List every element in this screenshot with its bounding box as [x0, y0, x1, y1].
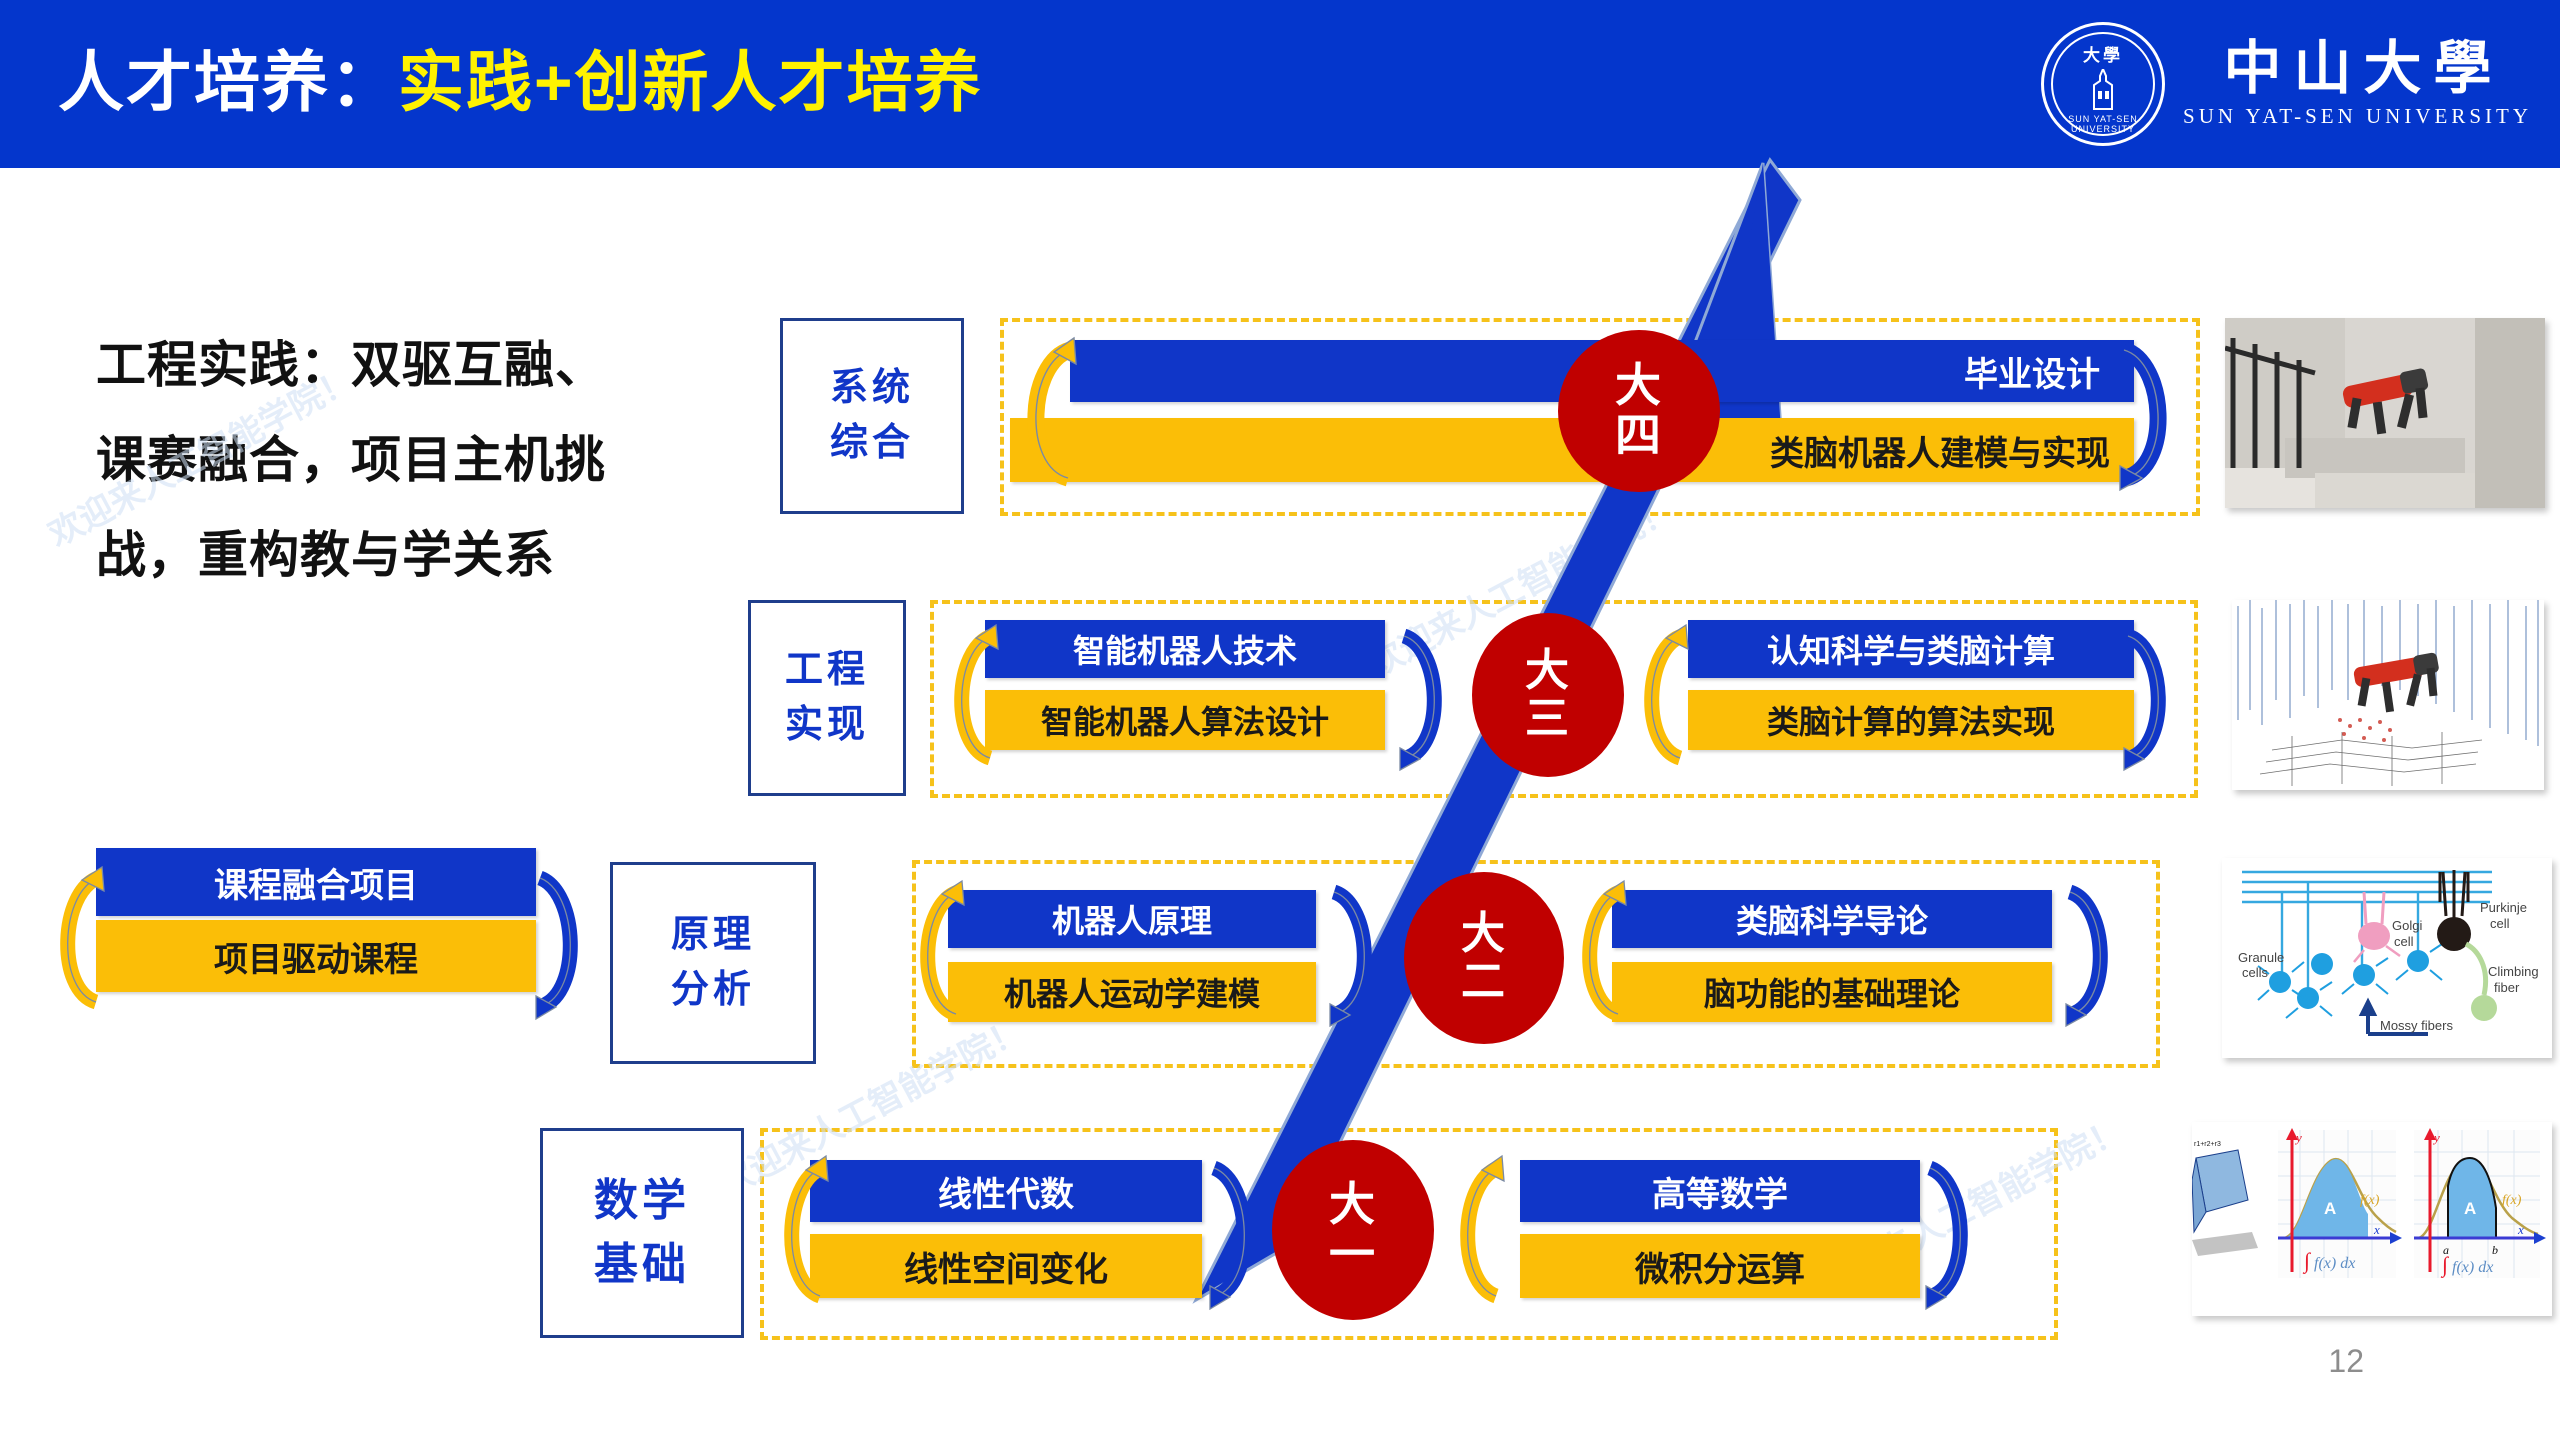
svg-text:x: x: [2373, 1222, 2380, 1237]
stage-label-line1: 数学: [594, 1169, 690, 1233]
stage-label-line2: 综合: [830, 416, 914, 471]
purkinje-label-line1: Purkinje: [2480, 900, 2527, 915]
loop-arrow-icon: [1630, 622, 1694, 772]
seal-chinese-text: 大學: [2044, 41, 2162, 66]
svg-text:f(x): f(x): [2360, 1193, 2380, 1208]
loop-arrow-icon: [908, 878, 970, 1030]
logo-wordmark: 中山大學 SUN YAT-SEN UNIVERSITY: [2183, 39, 2532, 129]
purkinje-label-line2: cell: [2490, 916, 2510, 931]
university-logo: 大學 SUN YAT-SEN UNIVERSITY 中山大學 SUN YAT-S…: [2041, 8, 2532, 160]
svg-text:r1+r2+r3: r1+r2+r3: [2194, 1141, 2221, 1148]
logo-name-cn: 中山大學: [2212, 39, 2504, 100]
year-line2: 四: [1615, 411, 1663, 461]
year-line1: 大: [1461, 910, 1507, 958]
thumbnail-robot-dog-stairs[interactable]: [2225, 318, 2545, 508]
stage-label-principle-analysis[interactable]: 原理 分析: [610, 862, 816, 1064]
page-title-white: 人才培养：: [58, 45, 398, 119]
course-bar-row3-right-yellow[interactable]: 脑功能的基础理论: [1612, 962, 2052, 1022]
svg-text:f(x): f(x): [2502, 1193, 2522, 1208]
stage-label-line2: 分析: [671, 963, 755, 1018]
stage-label-line1: 原理: [671, 908, 755, 963]
thumbnail-calculus-integral[interactable]: r1+r2+r3 y x A f(x) ∫ f(x) dx: [2192, 1122, 2552, 1316]
course-bar-row4-right-yellow[interactable]: 微积分运算: [1520, 1234, 1920, 1298]
year-line1: 大: [1615, 361, 1663, 411]
year-circle-senior[interactable]: 大 四: [1558, 330, 1720, 492]
logo-name-en: SUN YAT-SEN UNIVERSITY: [2183, 104, 2532, 129]
svg-text:x: x: [2517, 1222, 2524, 1237]
granule-label-line2: cells: [2242, 965, 2269, 980]
mossy-fibers-label: Mossy fibers: [2380, 1018, 2453, 1033]
left-description-text: 工程实践：双驱互融、课赛融合，项目主机挑战，重构教与学关系: [96, 318, 656, 603]
granule-label-line1: Granule: [2238, 950, 2284, 965]
robot-dog-stairs-image: [2225, 318, 2545, 508]
page-title: 人才培养：实践+创新人才培养: [58, 22, 983, 142]
year-circle-junior[interactable]: 大 三: [1472, 613, 1624, 777]
svg-text:A: A: [2324, 1199, 2336, 1218]
svg-text:y: y: [2432, 1130, 2440, 1145]
stage-label-line1: 系统: [830, 361, 914, 416]
course-bar-row3-left-blue[interactable]: 机器人原理: [948, 890, 1316, 948]
loop-arrow-icon: [1012, 336, 1084, 492]
loop-arrow-icon: [1202, 1150, 1264, 1312]
loop-arrow-icon: [1918, 1150, 1980, 1312]
year-line1: 大: [1525, 647, 1571, 695]
seal-english-text: SUN YAT-SEN UNIVERSITY: [2044, 114, 2162, 134]
golgi-label-line2: cell: [2394, 934, 2414, 949]
course-bar-row3-outer-blue[interactable]: 课程融合项目: [96, 848, 536, 916]
seal-tower-icon: [2086, 69, 2120, 111]
year-circle-sophomore[interactable]: 大 二: [1404, 872, 1564, 1044]
loop-arrow-icon: [1322, 878, 1384, 1030]
course-bar-row3-left-yellow[interactable]: 机器人运动学建模: [948, 962, 1316, 1022]
svg-text:y: y: [2294, 1130, 2302, 1145]
course-bar-row2-left-blue[interactable]: 智能机器人技术: [985, 620, 1385, 678]
course-bar-row2-right-yellow[interactable]: 类脑计算的算法实现: [1688, 690, 2134, 750]
loop-arrow-icon: [1392, 622, 1456, 772]
stage-label-system-integration[interactable]: 系统 综合: [780, 318, 964, 514]
year-line1: 大: [1329, 1180, 1377, 1230]
stage-label-line2: 基础: [594, 1233, 690, 1297]
year-line2: 二: [1461, 958, 1507, 1006]
stage-label-line2: 实现: [785, 698, 869, 753]
svg-text:b: b: [2492, 1243, 2498, 1257]
university-seal-icon: 大學 SUN YAT-SEN UNIVERSITY: [2041, 22, 2165, 146]
page-title-highlight: 实践+创新人才培养: [398, 45, 983, 119]
golgi-label-line1: Golgi: [2392, 918, 2422, 933]
climbing-label-line1: Climbing: [2488, 964, 2539, 979]
thumbnail-robot-dog-pointcloud[interactable]: [2232, 600, 2544, 790]
loop-arrow-icon: [2110, 336, 2182, 492]
course-bar-row4-right-blue[interactable]: 高等数学: [1520, 1160, 1920, 1222]
stage-label-math-foundation[interactable]: 数学 基础: [540, 1128, 744, 1338]
thumbnail-cerebellum-circuit[interactable]: Granule cells Golgi cell Purkinje cell C…: [2222, 858, 2552, 1058]
course-bar-row2-right-blue[interactable]: 认知科学与类脑计算: [1688, 620, 2134, 678]
year-line2: 三: [1525, 695, 1571, 743]
stage-label-engineering-implementation[interactable]: 工程 实现: [748, 600, 906, 796]
loop-arrow-icon: [940, 622, 1004, 772]
year-line2: 一: [1329, 1230, 1377, 1280]
loop-arrow-icon: [48, 862, 108, 1018]
stage-label-line1: 工程: [785, 643, 869, 698]
course-bar-row2-left-yellow[interactable]: 智能机器人算法设计: [985, 690, 1385, 750]
climbing-label-line2: fiber: [2494, 980, 2520, 995]
loop-arrow-icon: [2058, 878, 2120, 1030]
loop-arrow-icon: [1570, 878, 1632, 1030]
loop-arrow-icon: [2116, 622, 2180, 772]
robot-dog-pointcloud-image: [2232, 600, 2544, 790]
loop-arrow-icon: [530, 862, 590, 1022]
year-circle-freshman[interactable]: 大 一: [1272, 1140, 1434, 1320]
page-number: 12: [2328, 1343, 2364, 1380]
slide-header: 人才培养：实践+创新人才培养 大學 SUN YAT-SEN UNIVERSITY…: [0, 0, 2560, 168]
course-bar-row4-left-blue[interactable]: 线性代数: [810, 1160, 1202, 1222]
course-bar-row3-right-blue[interactable]: 类脑科学导论: [1612, 890, 2052, 948]
cerebellum-circuit-image: Granule cells Golgi cell Purkinje cell C…: [2222, 858, 2552, 1058]
loop-arrow-icon: [1448, 1150, 1510, 1312]
calculus-integral-image: r1+r2+r3 y x A f(x) ∫ f(x) dx: [2192, 1122, 2552, 1316]
loop-arrow-icon: [772, 1150, 834, 1312]
svg-text:A: A: [2464, 1199, 2476, 1218]
course-bar-row4-left-yellow[interactable]: 线性空间变化: [810, 1234, 1202, 1298]
course-bar-row3-outer-yellow[interactable]: 项目驱动课程: [96, 920, 536, 992]
